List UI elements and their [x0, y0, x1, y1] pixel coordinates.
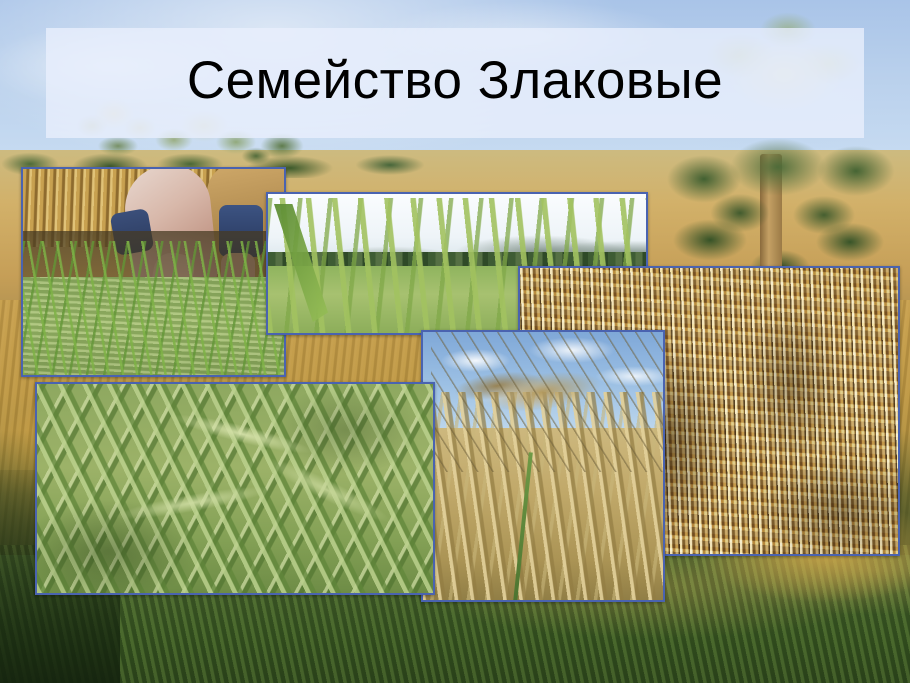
rye-photo-awns	[431, 332, 665, 472]
photo-golden-rye-ears[interactable]	[421, 330, 665, 602]
photo-green-barley-closeup[interactable]	[35, 382, 435, 595]
barley-photo-shadows	[37, 384, 433, 593]
photo-green-barley-content	[37, 384, 433, 593]
title-banner: Семейство Злаковые	[46, 28, 864, 138]
rice-photo-seedlings	[23, 241, 284, 377]
presentation-slide: Семейство Злаковые	[0, 0, 910, 683]
photo-rice-paddy-content	[23, 169, 284, 375]
page-title: Семейство Злаковые	[187, 54, 723, 113]
photo-rice-paddy-planting[interactable]	[21, 167, 286, 377]
photo-golden-rye-content	[423, 332, 663, 600]
